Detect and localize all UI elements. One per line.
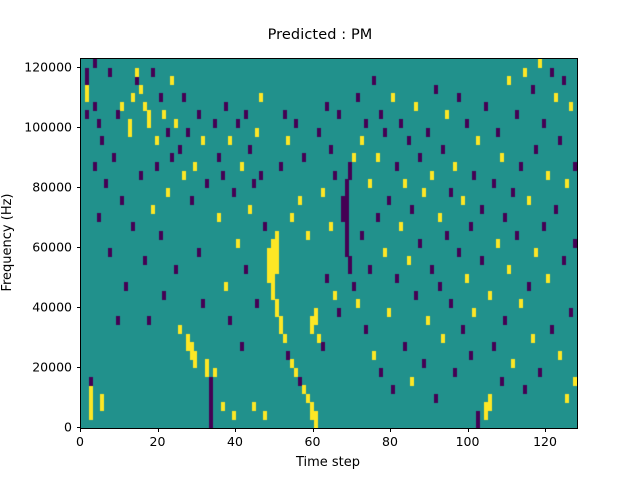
x-tick-mark	[158, 428, 159, 432]
page-title: Predicted : PM	[0, 27, 640, 43]
x-tick-label: 0	[76, 434, 84, 449]
x-tick-mark	[235, 428, 236, 432]
y-axis-label: Frequency (Hz)	[0, 58, 16, 427]
y-tick-mark	[77, 187, 81, 188]
x-tick-label: 80	[382, 434, 398, 449]
x-tick-mark	[80, 428, 81, 432]
y-tick-mark	[77, 247, 81, 248]
x-tick-label: 60	[305, 434, 321, 449]
x-tick-label: 100	[456, 434, 480, 449]
y-tick-mark	[77, 67, 81, 68]
figure-canvas: Predicted : PM 0200004000060000800001000…	[0, 0, 640, 480]
x-tick-mark	[390, 428, 391, 432]
x-tick-label: 20	[150, 434, 166, 449]
x-tick-label: 120	[533, 434, 557, 449]
x-tick-mark	[545, 428, 546, 432]
heatmap-image	[81, 59, 577, 428]
x-tick-mark	[468, 428, 469, 432]
y-tick-mark	[77, 127, 81, 128]
y-tick-mark	[77, 307, 81, 308]
y-tick-mark	[77, 367, 81, 368]
x-tick-mark	[313, 428, 314, 432]
x-tick-label: 40	[227, 434, 243, 449]
x-axis-label: Time step	[80, 455, 576, 470]
heatmap-plot-area	[80, 58, 578, 429]
